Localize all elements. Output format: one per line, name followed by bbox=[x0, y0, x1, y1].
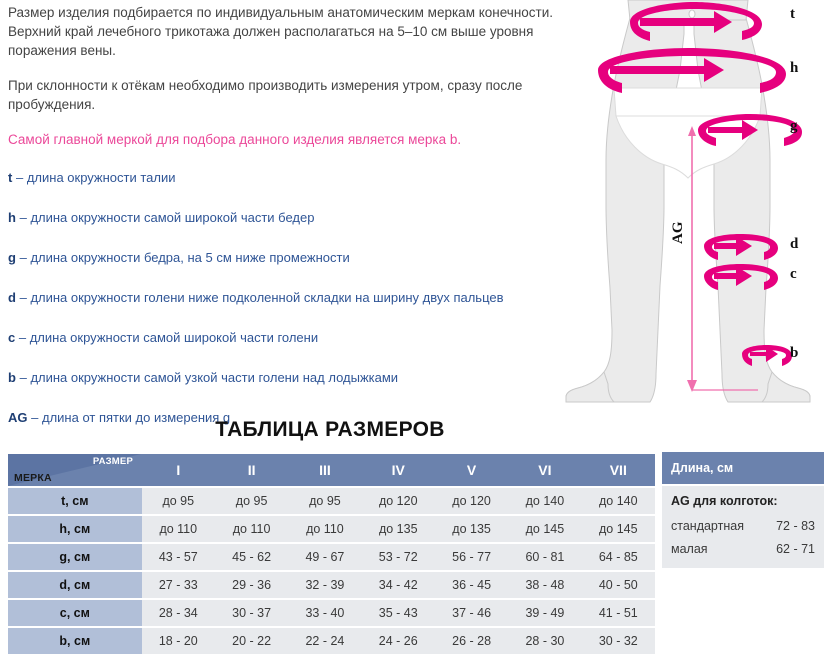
cell-d-3: 32 - 39 bbox=[288, 572, 361, 598]
cell-t-4: до 120 bbox=[362, 488, 435, 514]
table-row: h, см до 110 до 110 до 110 до 135 до 135… bbox=[8, 516, 655, 542]
measurement-key-d: d bbox=[8, 290, 16, 305]
cell-t-7: до 140 bbox=[582, 488, 655, 514]
length-panel-row-small: малая 62 - 71 bbox=[671, 538, 815, 561]
measurement-desc-b: длина окружности самой узкой части голен… bbox=[30, 370, 398, 385]
table-row: c, см 28 - 34 30 - 37 33 - 40 35 - 43 37… bbox=[8, 600, 655, 626]
table-header-row: РАЗМЕР МЕРКА I II III IV V VI VII bbox=[8, 454, 655, 486]
table-row: b, см 18 - 20 20 - 22 22 - 24 24 - 26 26… bbox=[8, 628, 655, 654]
measurement-desc-g: длина окружности бедра, на 5 см ниже про… bbox=[30, 250, 349, 265]
cell-b-7: 30 - 32 bbox=[582, 628, 655, 654]
length-panel-row-standard: стандартная 72 - 83 bbox=[671, 515, 815, 538]
cell-d-4: 34 - 42 bbox=[362, 572, 435, 598]
cell-t-2: до 95 bbox=[215, 488, 288, 514]
row-label-h: h, см bbox=[8, 516, 142, 542]
cell-b-1: 18 - 20 bbox=[142, 628, 215, 654]
measurement-dash-b: – bbox=[20, 370, 27, 385]
cell-b-2: 20 - 22 bbox=[215, 628, 288, 654]
cell-d-5: 36 - 45 bbox=[435, 572, 508, 598]
measurement-desc-t: длина окружности талии bbox=[27, 170, 176, 185]
length-value-small: 62 - 71 bbox=[776, 542, 815, 556]
table-col-header-2: II bbox=[215, 454, 288, 486]
measurement-key-h: h bbox=[8, 210, 16, 225]
length-label-small: малая bbox=[671, 542, 708, 556]
measurement-desc-h: длина окружности самой широкой части бед… bbox=[30, 210, 314, 225]
table-row: g, см 43 - 57 45 - 62 49 - 67 53 - 72 56… bbox=[8, 544, 655, 570]
cell-c-2: 30 - 37 bbox=[215, 600, 288, 626]
diagram-label-h: h bbox=[790, 60, 798, 77]
cell-b-4: 24 - 26 bbox=[362, 628, 435, 654]
row-label-b: b, см bbox=[8, 628, 142, 654]
length-panel-header: Длина, см bbox=[662, 452, 824, 484]
diagram-label-ag: AG bbox=[670, 222, 687, 245]
length-panel-body: AG для колготок: стандартная 72 - 83 мал… bbox=[662, 486, 824, 568]
length-label-standard: стандартная bbox=[671, 519, 744, 533]
measurement-item-h: h – длина окружности самой широкой части… bbox=[8, 209, 564, 227]
table-col-header-1: I bbox=[142, 454, 215, 486]
row-label-g: g, см bbox=[8, 544, 142, 570]
diagram-label-g: g bbox=[790, 118, 798, 135]
corner-merka-label: МЕРКА bbox=[14, 472, 52, 484]
measurement-item-g: g – длина окружности бедра, на 5 см ниже… bbox=[8, 249, 564, 267]
cell-h-5: до 135 bbox=[435, 516, 508, 542]
length-panel-caption: AG для колготок: bbox=[671, 491, 815, 515]
cell-g-7: 64 - 85 bbox=[582, 544, 655, 570]
measurement-desc-c: длина окружности самой широкой части гол… bbox=[30, 330, 318, 345]
cell-t-1: до 95 bbox=[142, 488, 215, 514]
diagram-label-b: b bbox=[790, 345, 798, 362]
table-row: d, см 27 - 33 29 - 36 32 - 39 34 - 42 36… bbox=[8, 572, 655, 598]
measurement-item-c: c – длина окружности самой широкой части… bbox=[8, 329, 564, 347]
table-corner-cell: РАЗМЕР МЕРКА bbox=[8, 454, 142, 486]
size-table: РАЗМЕР МЕРКА I II III IV V VI VII t, см … bbox=[8, 452, 655, 656]
table-col-header-4: IV bbox=[362, 454, 435, 486]
table-col-header-5: V bbox=[435, 454, 508, 486]
cell-c-4: 35 - 43 bbox=[362, 600, 435, 626]
cell-c-1: 28 - 34 bbox=[142, 600, 215, 626]
cell-h-6: до 145 bbox=[508, 516, 581, 542]
measurement-key-c: c bbox=[8, 330, 15, 345]
table-title: ТАБЛИЦА РАЗМЕРОВ bbox=[0, 418, 660, 442]
measurement-dash-g: – bbox=[20, 250, 27, 265]
measurement-dash-c: – bbox=[19, 330, 26, 345]
cell-c-5: 37 - 46 bbox=[435, 600, 508, 626]
measurement-key-b: b bbox=[8, 370, 16, 385]
highlight-note: Самой главной меркой для подбора данного… bbox=[8, 130, 564, 149]
cell-t-6: до 140 bbox=[508, 488, 581, 514]
cell-c-3: 33 - 40 bbox=[288, 600, 361, 626]
row-label-d: d, см bbox=[8, 572, 142, 598]
body-silhouette bbox=[566, 0, 810, 402]
table-col-header-6: VI bbox=[508, 454, 581, 486]
text-column: Размер изделия подбирается по индивидуал… bbox=[8, 0, 564, 449]
cell-h-3: до 110 bbox=[288, 516, 361, 542]
length-value-standard: 72 - 83 bbox=[776, 519, 815, 533]
cell-c-7: 41 - 51 bbox=[582, 600, 655, 626]
measurement-item-b: b – длина окружности самой узкой части г… bbox=[8, 369, 564, 387]
table-row: t, см до 95 до 95 до 95 до 120 до 120 до… bbox=[8, 488, 655, 514]
measurement-item-d: d – длина окружности голени ниже подколе… bbox=[8, 289, 564, 307]
diagram-label-c: c bbox=[790, 266, 797, 283]
measurement-item-t: t – длина окружности талии bbox=[8, 169, 564, 187]
cell-d-2: 29 - 36 bbox=[215, 572, 288, 598]
table-col-header-3: III bbox=[288, 454, 361, 486]
measurement-desc-d: длина окружности голени ниже подколенной… bbox=[30, 290, 503, 305]
measurement-key-t: t bbox=[8, 170, 12, 185]
row-label-c: c, см bbox=[8, 600, 142, 626]
cell-h-4: до 135 bbox=[362, 516, 435, 542]
cell-h-1: до 110 bbox=[142, 516, 215, 542]
cell-g-6: 60 - 81 bbox=[508, 544, 581, 570]
cell-h-2: до 110 bbox=[215, 516, 288, 542]
intro-paragraph-2: При склонности к отёкам необходимо произ… bbox=[8, 76, 564, 114]
measurement-dash-t: – bbox=[16, 170, 23, 185]
diagram-label-t: t bbox=[790, 6, 795, 23]
measurement-dash-d: – bbox=[20, 290, 27, 305]
cell-b-6: 28 - 30 bbox=[508, 628, 581, 654]
cell-d-6: 38 - 48 bbox=[508, 572, 581, 598]
cell-g-2: 45 - 62 bbox=[215, 544, 288, 570]
intro-paragraph-1: Размер изделия подбирается по индивидуал… bbox=[8, 3, 564, 60]
info-section: Размер изделия подбирается по индивидуал… bbox=[0, 0, 832, 410]
cell-g-4: 53 - 72 bbox=[362, 544, 435, 570]
cell-d-7: 40 - 50 bbox=[582, 572, 655, 598]
cell-t-5: до 120 bbox=[435, 488, 508, 514]
cell-d-1: 27 - 33 bbox=[142, 572, 215, 598]
table-col-header-7: VII bbox=[582, 454, 655, 486]
measurement-diagram: t h g d c b AG bbox=[564, 0, 832, 408]
corner-size-label: РАЗМЕР bbox=[93, 456, 133, 467]
cell-t-3: до 95 bbox=[288, 488, 361, 514]
cell-c-6: 39 - 49 bbox=[508, 600, 581, 626]
diagram-label-d: d bbox=[790, 236, 798, 253]
cell-g-1: 43 - 57 bbox=[142, 544, 215, 570]
measurement-key-g: g bbox=[8, 250, 16, 265]
cell-h-7: до 145 bbox=[582, 516, 655, 542]
cell-b-3: 22 - 24 bbox=[288, 628, 361, 654]
length-panel: Длина, см AG для колготок: стандартная 7… bbox=[662, 452, 824, 568]
cell-g-3: 49 - 67 bbox=[288, 544, 361, 570]
measurement-dash-h: – bbox=[20, 210, 27, 225]
cell-b-5: 26 - 28 bbox=[435, 628, 508, 654]
row-label-t: t, см bbox=[8, 488, 142, 514]
cell-g-5: 56 - 77 bbox=[435, 544, 508, 570]
